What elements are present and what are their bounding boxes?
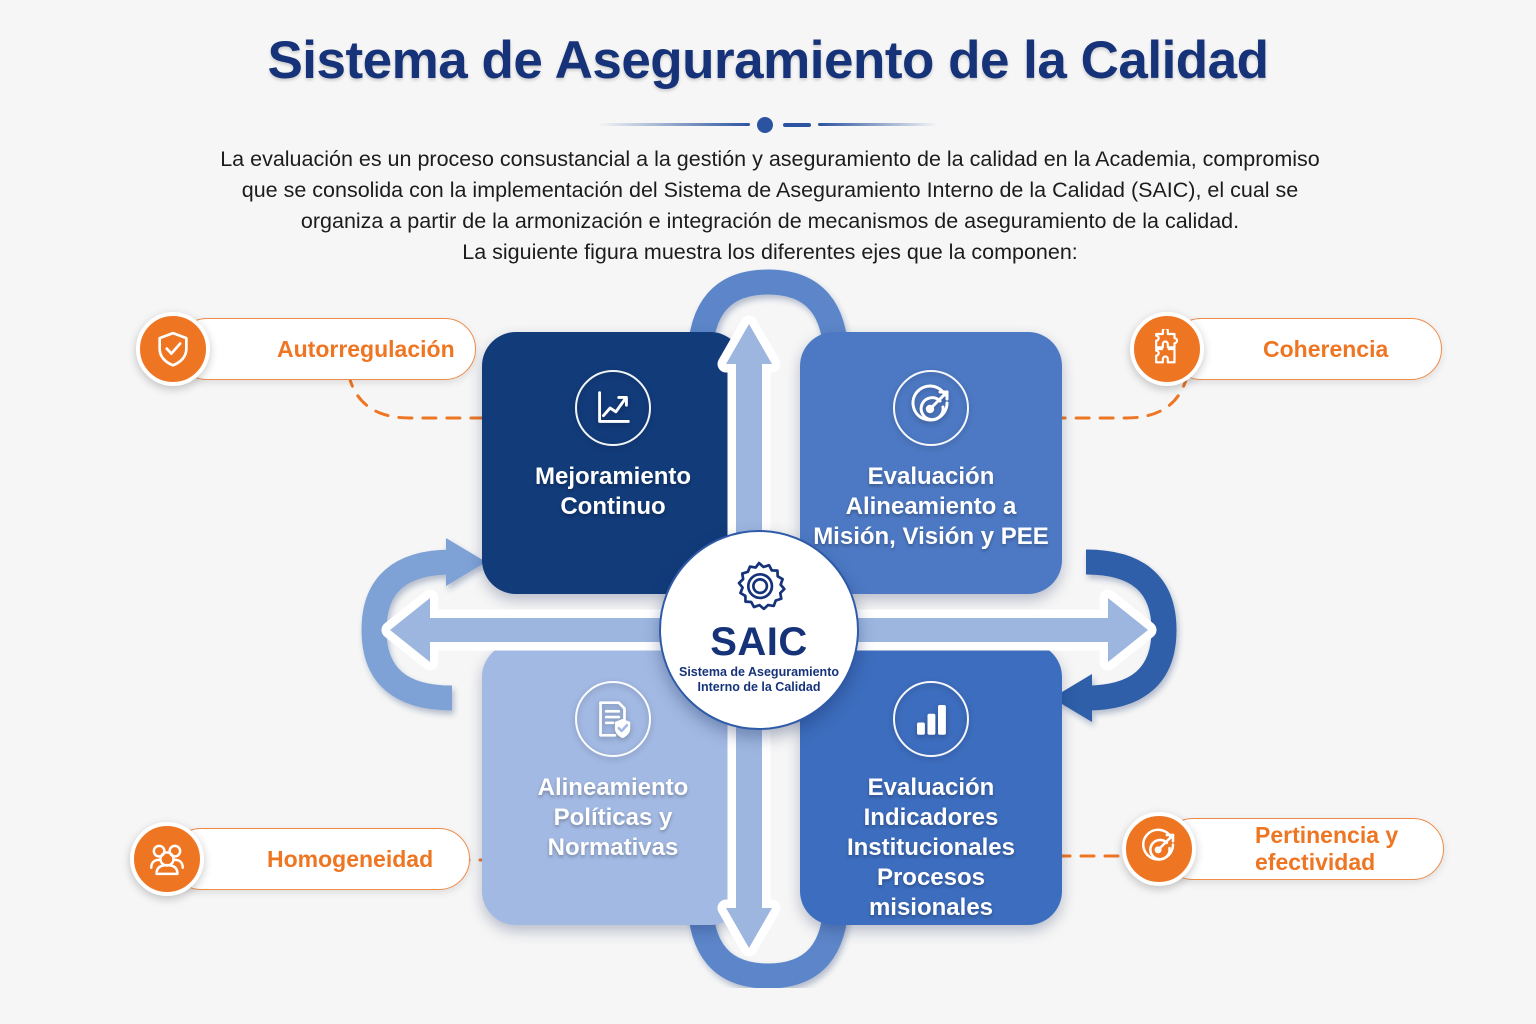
shield-check-icon [136,312,210,386]
divider-line-right [818,123,938,126]
page-title: Sistema de Aseguramiento de la Calidad [0,30,1536,91]
intro-line-3: organiza a partir de la armonización e i… [150,206,1390,237]
quadrant-label: Alineamiento Políticas y Normativas [530,773,697,863]
badge-label: Pertinencia y efectividad [1255,822,1398,876]
intro-line-1: La evaluación es un proceso consustancia… [150,144,1390,175]
badge-pill[interactable]: Coherencia [1170,318,1442,380]
quadrant-card-evaluacion-alineamiento[interactable]: Evaluación Alineamiento a Misión, Visión… [800,332,1062,594]
saic-subtitle: Sistema de Aseguramiento Interno de la C… [679,665,839,695]
badge-pill[interactable]: Pertinencia y efectividad [1162,818,1444,880]
badge-pertinencia-efectividad[interactable]: Pertinencia y efectividad [1122,818,1444,880]
arc-left [374,538,486,698]
center-saic-badge[interactable]: SAIC Sistema de Aseguramiento Interno de… [659,530,859,730]
title-divider [0,112,1536,136]
badge-label: Coherencia [1263,336,1388,363]
divider-dash [783,123,811,127]
saic-acronym: SAIC [710,621,808,663]
badge-label: Autorregulación [277,336,455,363]
intro-line-4: La siguiente figura muestra los diferent… [150,237,1390,268]
people-group-icon [130,822,204,896]
target-arrow-icon [1122,812,1196,886]
intro-paragraph: La evaluación es un proceso consustancia… [150,144,1390,268]
infographic-page: Sistema de Aseguramiento de la Calidad L… [0,0,1536,1024]
badge-autorregulacion[interactable]: Autorregulación [136,318,476,380]
puzzle-icon [1130,312,1204,386]
saic-subtitle-line-2: Interno de la Calidad [679,680,839,695]
quadrant-label: Evaluación Alineamiento a Misión, Visión… [805,462,1057,552]
arc-right [1052,562,1164,722]
divider-dot [757,117,773,133]
quadrant-label: Evaluación Indicadores Institucionales P… [839,773,1023,923]
badge-coherencia[interactable]: Coherencia [1130,318,1442,380]
badge-homogeneidad[interactable]: Homogeneidad [130,828,470,890]
saic-subtitle-line-1: Sistema de Aseguramiento [679,665,839,680]
badge-pill[interactable]: Homogeneidad [170,828,470,890]
document-shield-icon [575,681,651,757]
bar-chart-icon [893,681,969,757]
growth-chart-icon [575,370,651,446]
target-arrow-icon [893,370,969,446]
intro-line-2: que se consolida con la implementación d… [150,175,1390,206]
badge-pill[interactable]: Autorregulación [176,318,476,380]
gear-icon [732,558,786,617]
divider-line-left [598,123,750,126]
badge-label: Homogeneidad [267,846,433,873]
quadrant-label: Mejoramiento Continuo [527,462,699,522]
